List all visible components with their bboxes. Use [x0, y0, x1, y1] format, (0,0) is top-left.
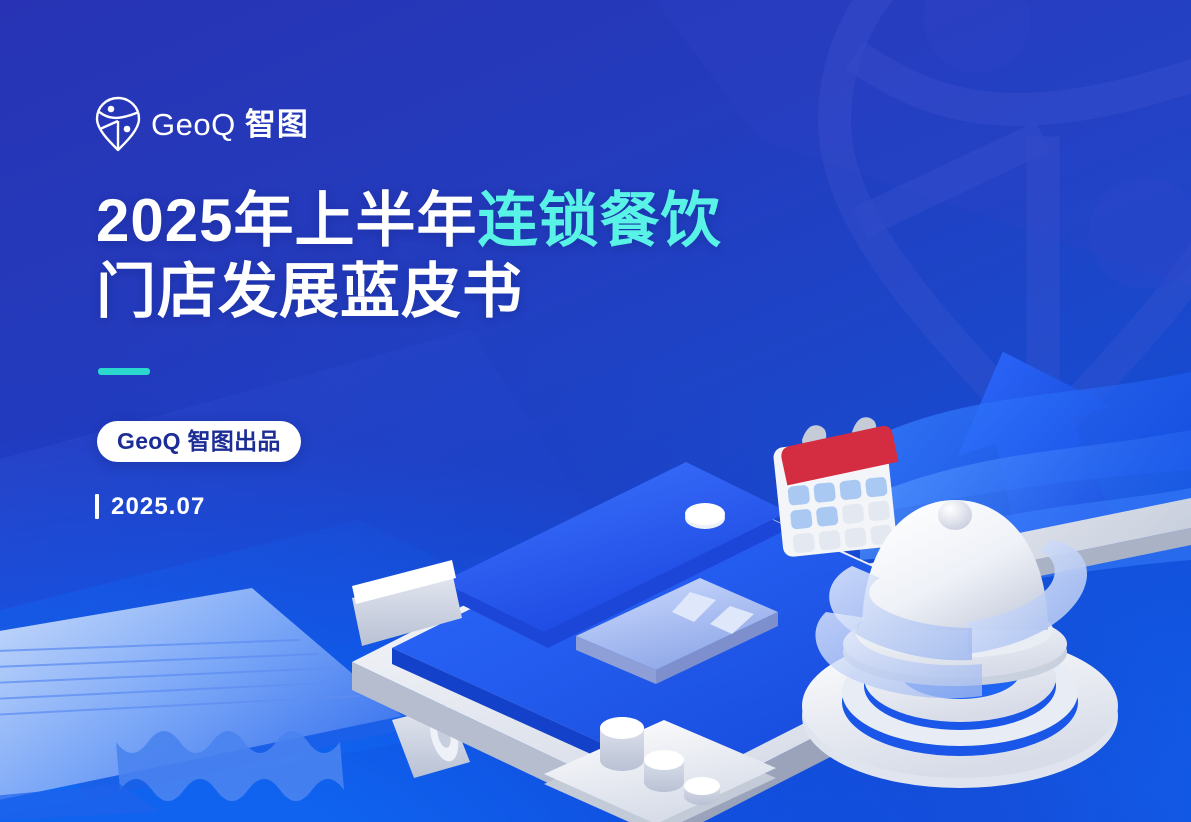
- fork-shape: [576, 578, 778, 684]
- knob-medium: [644, 750, 684, 792]
- podium-rings: [802, 634, 1118, 788]
- title-line-2: 门店发展蓝皮书: [96, 257, 796, 328]
- page-title: 2025年上半年连锁餐饮 门店发展蓝皮书: [96, 186, 796, 328]
- brand-logo[interactable]: GeoQ 智图: [95, 96, 309, 152]
- date-accent-bar: [95, 494, 99, 519]
- geoq-map-pin-icon: [95, 96, 141, 152]
- knob-tray: [544, 717, 776, 822]
- rail-bar: [690, 498, 1191, 648]
- ribbed-ramp: [0, 588, 420, 822]
- blue-slab: [352, 462, 790, 648]
- producer-badge-label: GeoQ 智图出品: [117, 430, 281, 453]
- title-line-1-plain: 2025年上半年: [96, 187, 477, 254]
- blue-tray: [392, 492, 1000, 798]
- cyan-accent-rule: [98, 368, 150, 375]
- roller-cylinder: [392, 706, 470, 778]
- white-platform: [352, 486, 1020, 822]
- knob-large: [600, 717, 644, 771]
- geoq-map-pin-watermark-icon: [763, 0, 1191, 482]
- brand-name-en: GeoQ: [151, 107, 236, 142]
- ribbon-swirl: [815, 540, 1087, 698]
- knob-small: [684, 777, 720, 805]
- report-cover: GeoQ 智图 2025年上半年连锁餐饮 门店发展蓝皮书 GeoQ 智图出品 2…: [0, 0, 1191, 822]
- cloche-dome: [843, 500, 1067, 686]
- title-line-1-accent: 连锁餐饮: [477, 187, 721, 254]
- producer-badge: GeoQ 智图出品: [97, 421, 301, 462]
- publication-date: 2025.07: [95, 494, 205, 519]
- arrow-wave: [840, 325, 1191, 595]
- title-line-1: 2025年上半年连锁餐饮: [96, 186, 796, 257]
- brand-name-cn: 智图: [245, 107, 309, 142]
- calendar-icon: [773, 417, 900, 557]
- brand-logo-text: GeoQ 智图: [151, 109, 309, 140]
- date-value: 2025.07: [111, 495, 205, 519]
